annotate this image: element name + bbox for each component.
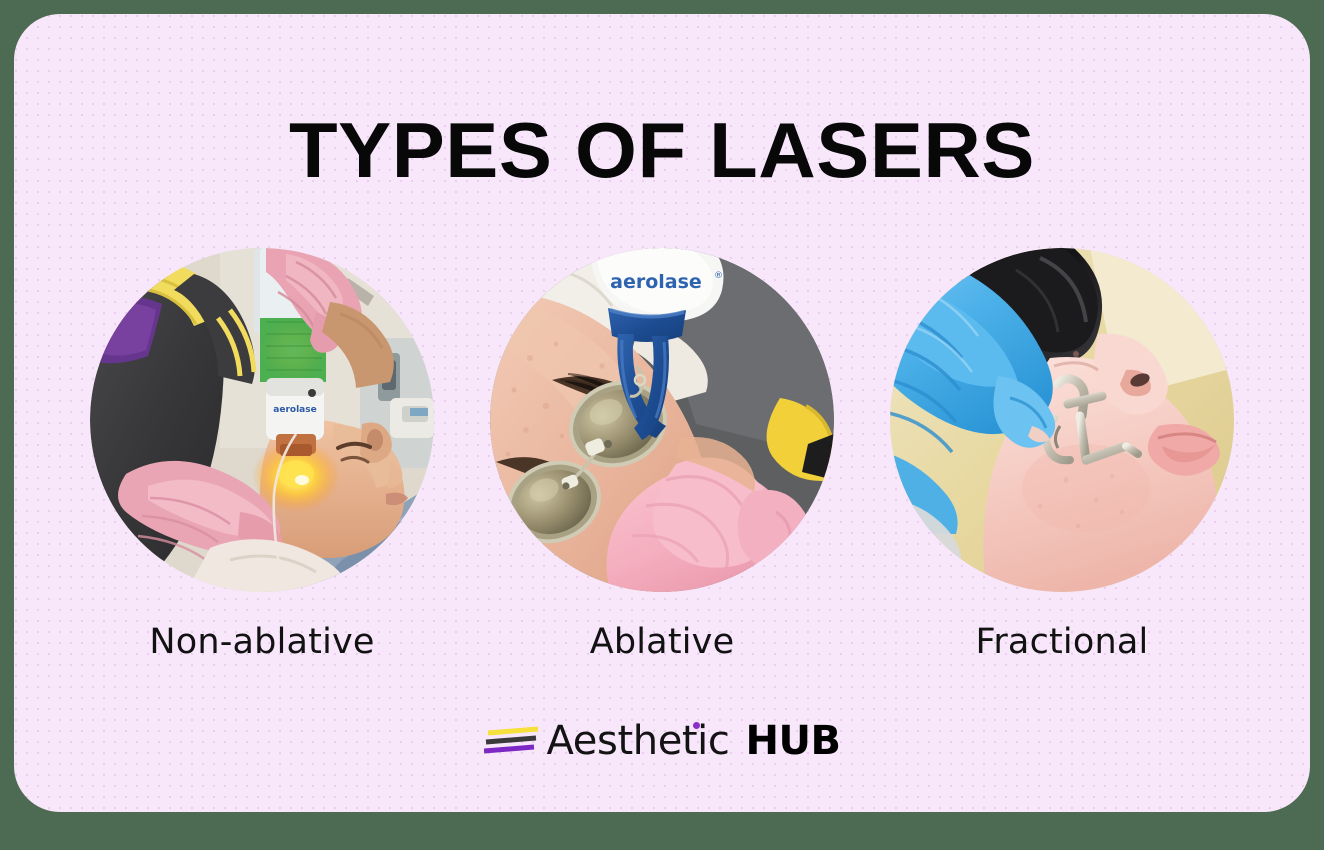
logo-word-aesthetic: Aesthetic [547,720,730,762]
non-ablative-photo-artwork: aerolase [90,248,434,592]
brand-logo[interactable]: Aesthetic HUB [14,720,1310,762]
logo-bars-icon [484,724,540,758]
brand-logo-inner[interactable]: Aesthetic HUB [484,720,841,762]
ablative-photo-artwork: aerolase ® [490,248,834,592]
logo-word-hub: HUB [746,720,841,762]
non-ablative-laser-photo: aerolase [90,248,434,592]
svg-text:aerolase: aerolase [273,405,316,415]
page-title: TYPES OF LASERS [14,110,1310,190]
logo-dot-icon [693,722,700,729]
svg-text:®: ® [714,271,723,281]
svg-text:aerolase: aerolase [610,271,702,293]
infographic-card: TYPES OF LASERS [14,14,1310,812]
laser-type-item: Fractional [889,248,1235,664]
fractional-photo-artwork [890,248,1234,592]
logo-aesthetic-text: Aesthetic [547,718,730,764]
laser-type-caption: Ablative [590,620,735,664]
ablative-laser-photo: aerolase ® [490,248,834,592]
laser-type-item: aerolase ® [489,248,835,664]
laser-types-row: aerolase [14,248,1310,664]
fractional-laser-photo [890,248,1234,592]
laser-type-item: aerolase [89,248,435,664]
laser-type-caption: Non-ablative [149,620,374,664]
laser-type-caption: Fractional [976,620,1149,664]
